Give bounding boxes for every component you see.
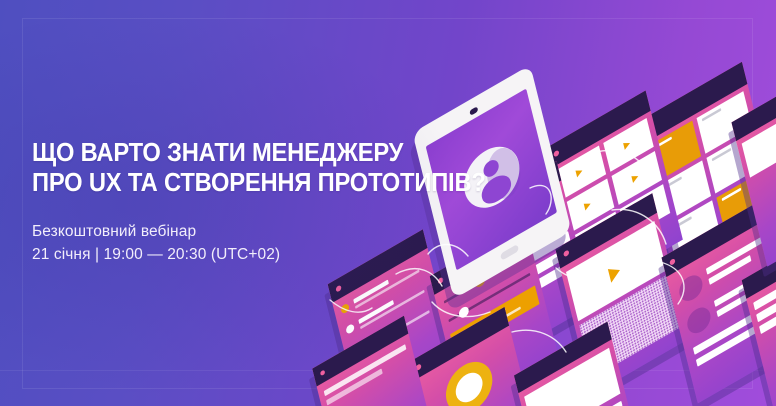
- webinar-banner: ЩО ВАРТО ЗНАТИ МЕНЕДЖЕРУ ПРО UX ТА СТВОР…: [0, 0, 776, 406]
- headline-line-2: ПРО UX ТА СТВОРЕННЯ ПРОТОТИПІВ?: [32, 168, 423, 198]
- subtitle-line-1: Безкоштовний вебінар: [32, 220, 452, 243]
- avatar-icon: [677, 271, 705, 306]
- slider-icon: [458, 305, 470, 320]
- headline-line-1: ЩО ВАРТО ЗНАТИ МЕНЕДЖЕРУ: [32, 138, 423, 168]
- subtitle-line-2: 21 січня | 19:00 — 20:30 (UTC+02): [32, 243, 452, 266]
- banner-copy: ЩО ВАРТО ЗНАТИ МЕНЕДЖЕРУ ПРО UX ТА СТВОР…: [32, 138, 452, 266]
- avatar-icon: [685, 303, 713, 338]
- subtitle-block: Безкоштовний вебінар 21 січня | 19:00 — …: [32, 220, 452, 266]
